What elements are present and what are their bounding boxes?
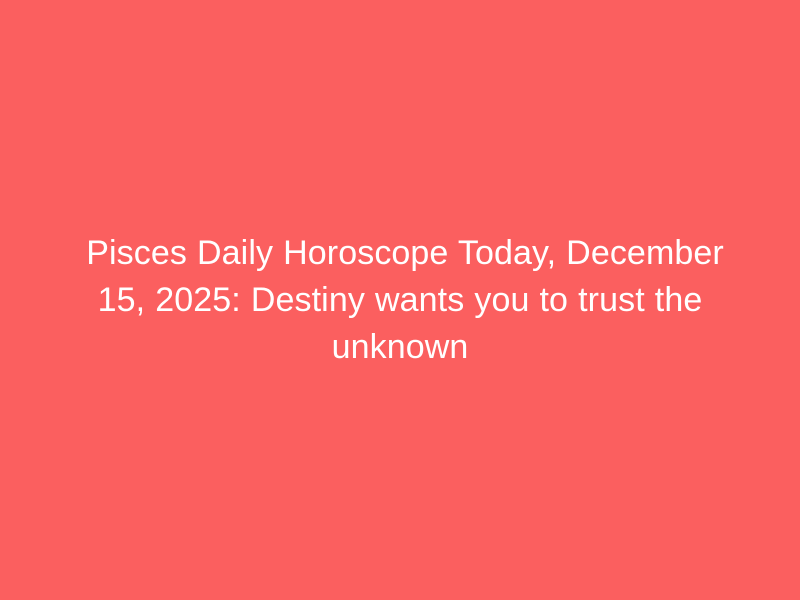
headline-block: Pisces Daily Horoscope Today, December 1… [46, 230, 754, 371]
page-title: Pisces Daily Horoscope Today, December 1… [50, 230, 750, 371]
horoscope-share-card: Pisces Daily Horoscope Today, December 1… [0, 0, 800, 600]
